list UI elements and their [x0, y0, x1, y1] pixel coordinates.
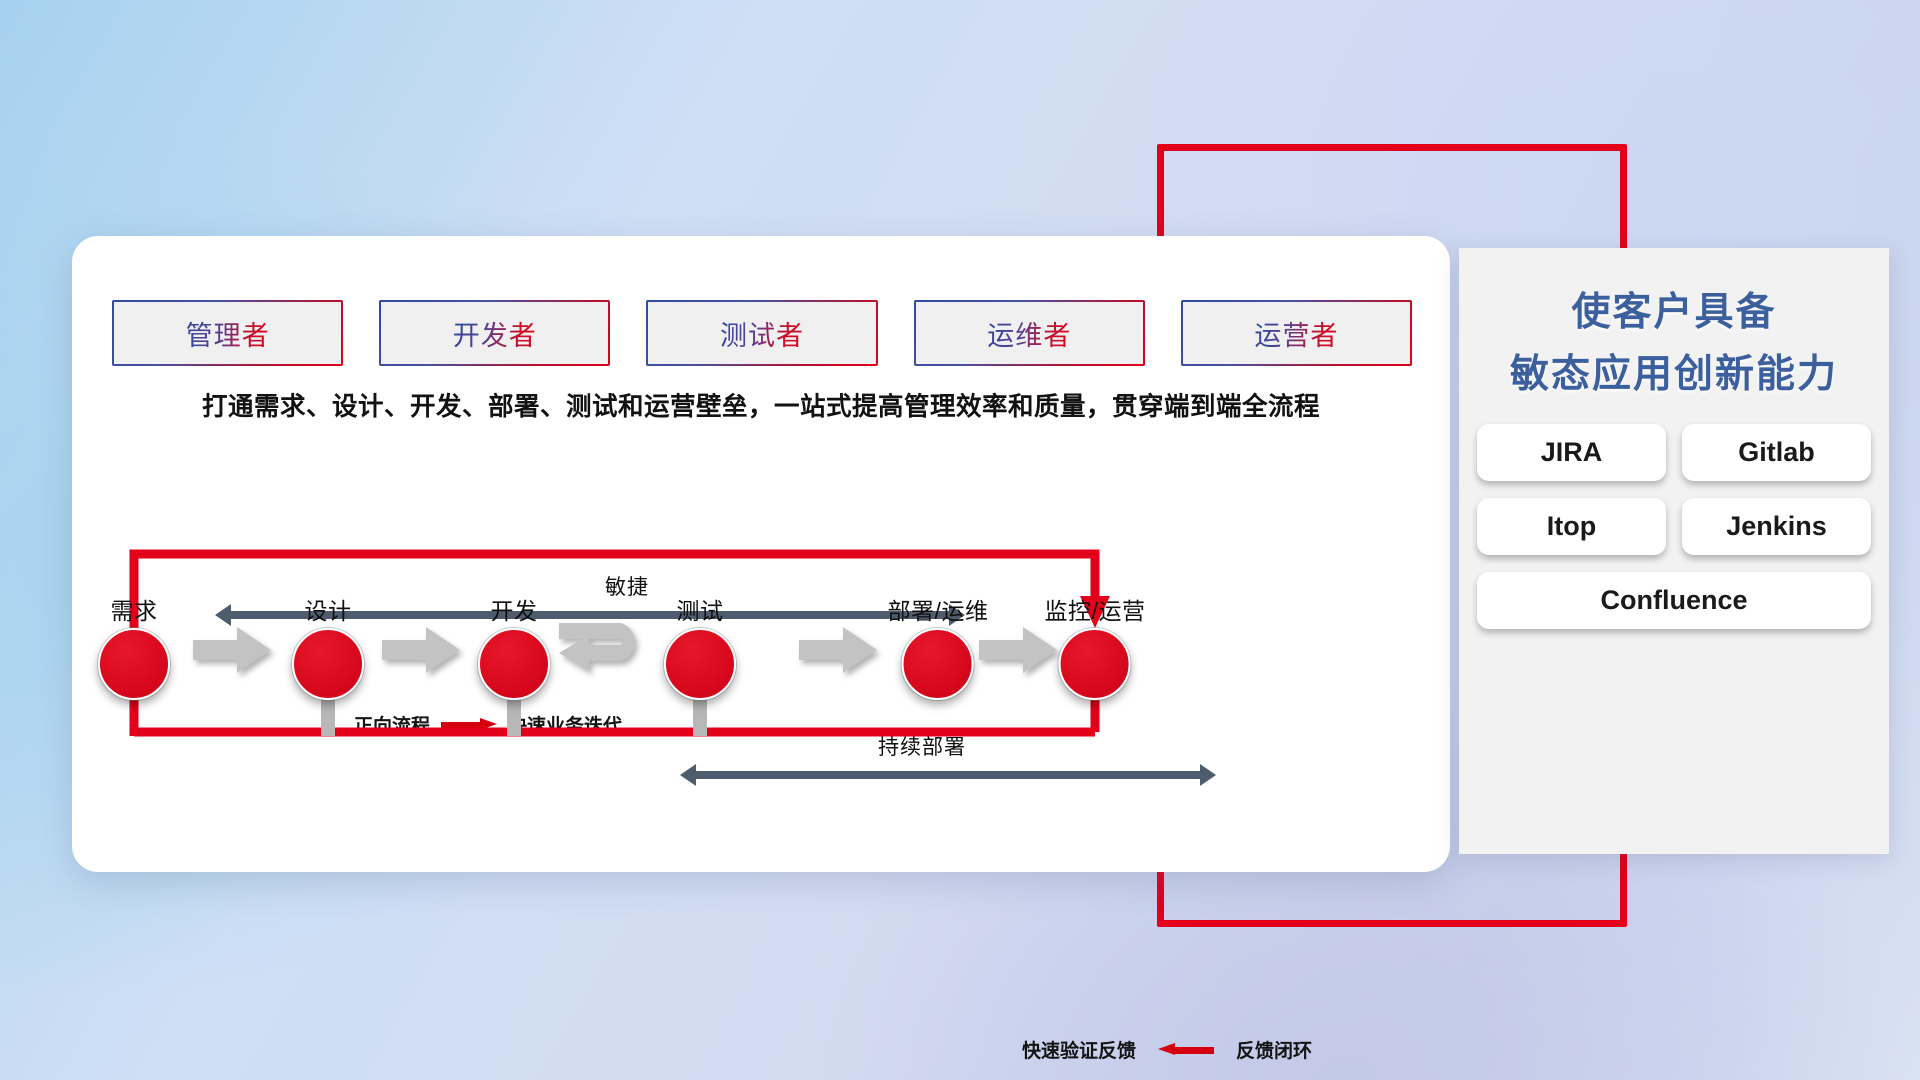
stage-label: 监控/运营	[1045, 592, 1146, 626]
chevron-arrow-icon	[193, 627, 271, 673]
tool-badge-confluence[interactable]: Confluence	[1477, 572, 1871, 629]
headline-line-2: 敏态应用创新能力	[1459, 344, 1889, 406]
stage-demand[interactable]: 需求	[98, 592, 170, 700]
stage-dot	[98, 628, 170, 700]
panel-headline: 使客户具备 敏态应用创新能力	[1459, 248, 1889, 406]
stage-dot	[292, 628, 364, 700]
tool-badge-jira[interactable]: JIRA	[1477, 424, 1666, 481]
stage-label: 设计	[292, 592, 364, 626]
stage-dot	[664, 628, 736, 700]
tool-badge-jenkins[interactable]: Jenkins	[1682, 498, 1871, 555]
chevron-arrow-icon	[799, 627, 877, 673]
chevron-arrow-icon	[979, 627, 1057, 673]
main-card: 管理者 开发者 测试者 运维者 运营者 打通需求、设计、开发、部署、测试和运营壁…	[72, 236, 1450, 872]
slide-canvas: 管理者 开发者 测试者 运维者 运营者 打通需求、设计、开发、部署、测试和运营壁…	[0, 0, 1920, 1080]
stage-test[interactable]: 测试	[664, 592, 736, 700]
tool-badge-grid: JIRA Gitlab Itop Jenkins Confluence	[1477, 424, 1871, 629]
stage-row: 需求 设计 开发 测试 部署/运维 监控/运营	[72, 236, 1450, 872]
stage-dot	[478, 628, 550, 700]
feedback-loop-label: 反馈闭环	[1236, 1036, 1312, 1063]
iteration-loop-icon	[555, 617, 659, 687]
tool-badge-gitlab[interactable]: Gitlab	[1682, 424, 1871, 481]
left-arrow-icon	[1158, 1043, 1214, 1056]
right-panel: 使客户具备 敏态应用创新能力 JIRA Gitlab Itop Jenkins …	[1459, 248, 1889, 854]
stage-develop[interactable]: 开发	[478, 592, 550, 700]
stage-label: 需求	[98, 592, 170, 626]
fast-validation-label: 快速验证反馈	[1022, 1036, 1136, 1063]
stage-dot	[902, 628, 974, 700]
chevron-arrow-icon	[382, 627, 460, 673]
stage-design[interactable]: 设计	[292, 592, 364, 700]
stage-label: 测试	[664, 592, 736, 626]
stage-deploy-ops[interactable]: 部署/运维	[888, 592, 989, 700]
tool-badge-itop[interactable]: Itop	[1477, 498, 1666, 555]
headline-line-1: 使客户具备	[1459, 282, 1889, 344]
stage-label: 开发	[478, 592, 550, 626]
feedback-caption: 快速验证反馈 反馈闭环	[1022, 1036, 1312, 1063]
stage-label: 部署/运维	[888, 592, 989, 626]
stage-dot	[1059, 628, 1131, 700]
stage-monitor-operate[interactable]: 监控/运营	[1045, 592, 1146, 700]
